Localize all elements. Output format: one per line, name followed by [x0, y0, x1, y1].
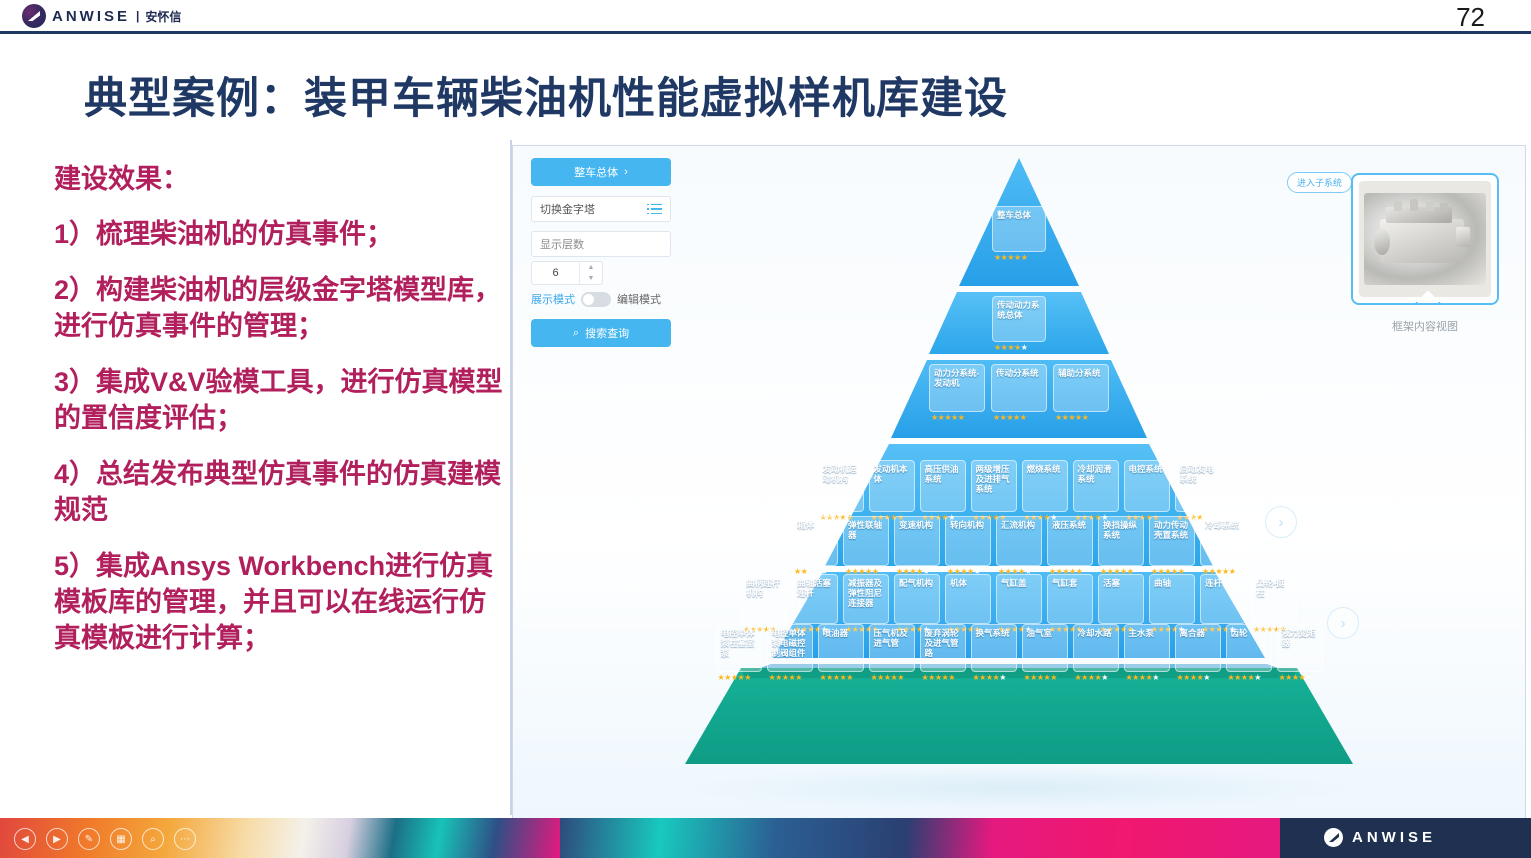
pyramid-node[interactable]: 电控单体泵电磁控制阀组件: [767, 624, 813, 672]
node-rating-stars: ★★★★★: [820, 673, 853, 682]
pyramid-node[interactable]: 凸轮-挺柱: [1251, 574, 1297, 624]
pyramid-node-label: 汇流机构: [1001, 520, 1037, 530]
stepper-arrows[interactable]: ▲ ▼: [579, 262, 602, 284]
pyramid-node[interactable]: 变速机构: [894, 516, 940, 566]
pyramid-node[interactable]: 离合器: [1175, 624, 1221, 672]
pyramid-node-label: 曲轴活塞连杆: [797, 578, 833, 598]
zoom-icon[interactable]: ⌕: [142, 828, 164, 850]
search-button-label: 搜索查询: [585, 325, 629, 341]
bullet-item-4: 4）总结发布典型仿真事件的仿真建模规范: [54, 457, 509, 529]
search-icon: ⌕: [573, 327, 579, 340]
pyramid-node[interactable]: 启动发电系统: [1175, 460, 1221, 512]
pyramid-node-label: 油气室: [1027, 628, 1063, 638]
pyramid-node[interactable]: 喷油器: [818, 624, 864, 672]
preview-caption: 框架内容视图: [1351, 318, 1499, 334]
pyramid-node-label: 离合器: [1180, 628, 1216, 638]
pyramid-node[interactable]: 发动机本体: [869, 460, 915, 512]
pyramid-node-label: 液力变矩器: [1282, 628, 1318, 648]
bottom-gradient-right: [560, 818, 1280, 858]
pyramid-node-label: 减振器及弹性阻尼连接器: [848, 578, 884, 608]
pyramid-node-label: 动力传动壳置系统: [1154, 520, 1190, 540]
pyramid-node-label: 连杆: [1205, 578, 1241, 588]
pyramid-node-label: 传动分系统: [996, 368, 1042, 378]
pyramid-node-label: 气缸套: [1052, 578, 1088, 588]
pyramid-node[interactable]: 液力变矩器: [1277, 624, 1323, 672]
node-rating-stars: ★★★★★: [871, 673, 904, 682]
prev-slide-icon[interactable]: ◀: [14, 828, 36, 850]
pyramid-node[interactable]: 换挡操纵系统: [1098, 516, 1144, 566]
pyramid-node-label: 压气机及进气管: [874, 628, 910, 648]
node-rating-stars: ★★★★★: [1279, 673, 1312, 682]
stepper-up-icon[interactable]: ▲: [580, 262, 602, 273]
pyramid-node[interactable]: 转向机构: [945, 516, 991, 566]
pyramid-node-label: 传动动力系统总体: [997, 300, 1041, 320]
anwise-footer-logo-icon: [1324, 828, 1343, 847]
pyramid-node[interactable]: 弹性联轴器: [843, 516, 889, 566]
pyramid-node-label: 配气机构: [899, 578, 935, 588]
vehicle-overall-button[interactable]: 整车总体 ›: [531, 158, 671, 186]
pyramid-node[interactable]: 箱体: [792, 516, 838, 566]
pyramid-node-label: 机体: [950, 578, 986, 588]
app-screenshot-panel: 整车总体 › 切换金字塔 显示层数 6 ▲ ▼ 展示模式 编辑模式: [512, 145, 1526, 819]
pyramid-node[interactable]: 配气机构: [894, 574, 940, 624]
pyramid-node[interactable]: 活塞: [1098, 574, 1144, 624]
pyramid-node-label: 电控系统: [1129, 464, 1165, 474]
pyramid-node-label: 辅助分系统: [1058, 368, 1104, 378]
pyramid-node-label: 换挡操纵系统: [1103, 520, 1139, 540]
frame-content-preview[interactable]: [1351, 173, 1499, 305]
pyramid-node-label: 燃烧系统: [1027, 464, 1063, 474]
pyramid-node-label: 发动机本体: [874, 464, 910, 484]
pyramid-node[interactable]: 气缸盖: [996, 574, 1042, 624]
pyramid-shadow: [683, 766, 1353, 810]
pyramid-node-label: 齿轮: [1231, 628, 1267, 638]
enter-subsystem-badge[interactable]: 进入子系统: [1287, 172, 1352, 193]
pyramid-node[interactable]: 动力分系统-发动机: [929, 364, 985, 412]
brand-name-chinese: 安怀信: [145, 8, 181, 25]
bullet-heading: 建设效果：: [54, 163, 509, 195]
pyramid-node[interactable]: 主水泵: [1124, 624, 1170, 672]
pyramid-node-label: 箱体: [797, 520, 833, 530]
pyramid-node[interactable]: 废弃涡轮及进气管路: [920, 624, 966, 672]
edit-mode-label: 编辑模式: [617, 291, 661, 307]
chevron-right-icon-lower[interactable]: ›: [1327, 607, 1359, 639]
pyramid-node-label: 气缸盖: [1001, 578, 1037, 588]
node-rating-stars: ★★★★★: [931, 413, 964, 422]
bullet-item-5: 5）集成Ansys Workbench进行仿真模板库的管理，并且可以在线运行仿真…: [54, 549, 509, 657]
footer-logo: ANWISE: [1324, 828, 1436, 847]
pyramid-node-label: 废弃涡轮及进气管路: [925, 628, 961, 658]
layers-label: 显示层数: [540, 236, 584, 252]
pyramid-node-label: 变速机构: [899, 520, 935, 530]
pyramid-node-label: 整车总体: [997, 210, 1041, 220]
switch-pyramid-row[interactable]: 切换金字塔: [531, 196, 671, 222]
pyramid-node-label: 换气系统: [976, 628, 1012, 638]
pyramid-node[interactable]: 压气机及进气管: [869, 624, 915, 672]
pyramid-node-label: 凸轮-挺柱: [1256, 578, 1292, 598]
display-mode-label: 展示模式: [531, 291, 575, 307]
pyramid-node[interactable]: 辅助分系统: [1053, 364, 1109, 412]
bullet-list: 建设效果： 1）梳理柴油机的仿真事件； 2）构建柴油机的层级金字塔模型库，进行仿…: [54, 163, 509, 676]
pyramid-node[interactable]: 汇流机构: [996, 516, 1042, 566]
switch-pyramid-label: 切换金字塔: [540, 201, 595, 217]
pen-icon[interactable]: ✎: [78, 828, 100, 850]
pyramid-node[interactable]: 高压供油系统: [920, 460, 966, 512]
pyramid-node[interactable]: 两级增压及进排气系统: [971, 460, 1017, 512]
node-rating-stars: ★★★★★: [1228, 673, 1261, 682]
pyramid-node-label: 曲柄连杆机构: [746, 578, 782, 598]
control-panel: 整车总体 › 切换金字塔 显示层数 6 ▲ ▼ 展示模式 编辑模式: [531, 158, 671, 347]
pyramid-node[interactable]: 电控单体泵柱塞室泵: [716, 624, 762, 672]
pyramid-node-label: 弹性联轴器: [848, 520, 884, 540]
pyramid-node-label: 转向机构: [950, 520, 986, 530]
node-rating-stars: ★★★★★: [973, 673, 1006, 682]
pyramid-node[interactable]: 燃烧系统: [1022, 460, 1068, 512]
mode-toggle-switch[interactable]: [581, 292, 611, 307]
pyramid-node-label: 液压系统: [1052, 520, 1088, 530]
pyramid-node[interactable]: 连杆: [1200, 574, 1246, 624]
pyramid-node[interactable]: 传动分系统: [991, 364, 1047, 412]
pyramid-node-label: 喷油器: [823, 628, 859, 638]
pyramid-node[interactable]: 整车总体: [992, 206, 1046, 252]
pyramid-node-label: 发动机运动机构: [823, 464, 859, 484]
list-icon[interactable]: [647, 204, 662, 215]
node-rating-stars: ★★★★★: [922, 673, 955, 682]
pyramid-node[interactable]: 油气室: [1022, 624, 1068, 672]
node-rating-stars: ★★★★★: [993, 413, 1026, 422]
pyramid-node-label: 活塞: [1103, 578, 1139, 588]
node-rating-stars: ★★★★★: [1075, 673, 1108, 682]
mode-toggle-row[interactable]: 展示模式 编辑模式: [531, 291, 671, 307]
pyramid-node[interactable]: 机体: [945, 574, 991, 624]
slide-grid-icon[interactable]: ▦: [110, 828, 132, 850]
layers-value: 6: [532, 267, 579, 279]
pyramid-node-label: 电控单体泵电磁控制阀组件: [772, 628, 808, 658]
stepper-down-icon[interactable]: ▼: [580, 273, 602, 284]
pyramid-node-label: 电控单体泵柱塞室泵: [721, 628, 757, 658]
chevron-right-icon-upper[interactable]: ›: [1265, 506, 1297, 538]
diesel-engine-photo: [1364, 193, 1486, 285]
pyramid-node[interactable]: 减振器及弹性阻尼连接器: [843, 574, 889, 624]
footer-brand-name: ANWISE: [1352, 829, 1436, 846]
pyramid-node[interactable]: 齿轮: [1226, 624, 1272, 672]
pyramid-node-label: 冷却系统: [1205, 520, 1241, 530]
slide-root: ANWISE | 安怀信 72 典型案例：装甲车辆柴油机性能虚拟样机库建设 建设…: [0, 0, 1531, 858]
pyramid-node-label: 冷却润滑系统: [1078, 464, 1114, 484]
layers-stepper[interactable]: 6 ▲ ▼: [531, 261, 603, 285]
node-rating-stars: ★★★★★: [1055, 413, 1088, 422]
brand-name-latin: ANWISE: [52, 8, 130, 25]
pyramid-node-label: 冷却水路: [1078, 628, 1114, 638]
pyramid-node-label: 主水泵: [1129, 628, 1165, 638]
bullet-item-2: 2）构建柴油机的层级金字塔模型库，进行仿真事件的管理；: [54, 273, 509, 345]
top-bar: ANWISE | 安怀信 72: [0, 0, 1531, 32]
node-rating-stars: ★★★★★: [994, 343, 1027, 352]
pyramid-node[interactable]: 气缸套: [1047, 574, 1093, 624]
anwise-logo-icon: [22, 4, 46, 28]
brand-name-separator: |: [136, 9, 139, 23]
next-slide-icon[interactable]: ▶: [46, 828, 68, 850]
pyramid-node[interactable]: 曲柄连杆机构: [741, 574, 787, 624]
more-options-icon[interactable]: ⋯: [174, 828, 196, 850]
node-rating-stars: ★★★★★: [1177, 673, 1210, 682]
pyramid-node[interactable]: 冷却润滑系统: [1073, 460, 1119, 512]
node-rating-stars: ★★★★★: [769, 673, 802, 682]
pyramid-node[interactable]: 冷却水路: [1073, 624, 1119, 672]
pyramid-node-label: 曲轴: [1154, 578, 1190, 588]
pyramid-node[interactable]: 换气系统: [971, 624, 1017, 672]
brand-logo: ANWISE | 安怀信: [22, 4, 181, 28]
pyramid-node[interactable]: 冷却系统: [1200, 516, 1246, 566]
node-rating-stars: ★★★★★: [994, 253, 1027, 262]
page-number: 72: [1456, 2, 1485, 33]
node-rating-stars: ★★★★★: [718, 673, 751, 682]
pyramid-node-label: 高压供油系统: [925, 464, 961, 484]
pyramid-node[interactable]: 动力传动壳置系统: [1149, 516, 1195, 566]
vehicle-overall-label: 整车总体: [574, 164, 618, 180]
pyramid-node-label: 启动发电系统: [1180, 464, 1216, 484]
bullet-item-1: 1）梳理柴油机的仿真事件；: [54, 217, 509, 253]
chevron-right-icon: ›: [624, 166, 628, 178]
pyramid-node[interactable]: 曲轴活塞连杆: [792, 574, 838, 624]
node-rating-stars: ★★★★★: [1126, 673, 1159, 682]
page-title: 典型案例：装甲车辆柴油机性能虚拟样机库建设: [84, 64, 1008, 126]
bullet-item-3: 3）集成V&V验模工具，进行仿真模型的置信度评估；: [54, 365, 509, 437]
pyramid-node[interactable]: 传动动力系统总体: [992, 296, 1046, 342]
pyramid-node[interactable]: 发动机运动机构: [818, 460, 864, 512]
pyramid-node-label: 动力分系统-发动机: [934, 368, 980, 388]
pyramid-node[interactable]: 液压系统: [1047, 516, 1093, 566]
layers-field[interactable]: 显示层数: [531, 231, 671, 257]
pyramid-node-label: 两级增压及进排气系统: [976, 464, 1012, 494]
pyramid-node[interactable]: 电控系统: [1124, 460, 1170, 512]
search-button[interactable]: ⌕ 搜索查询: [531, 319, 671, 347]
node-rating-stars: ★★★★★: [1024, 673, 1057, 682]
header-rule: [0, 31, 1531, 34]
pyramid-node[interactable]: 曲轴: [1149, 574, 1195, 624]
bottom-band: ◀ ▶ ✎ ▦ ⌕ ⋯ ANWISE: [0, 818, 1531, 858]
